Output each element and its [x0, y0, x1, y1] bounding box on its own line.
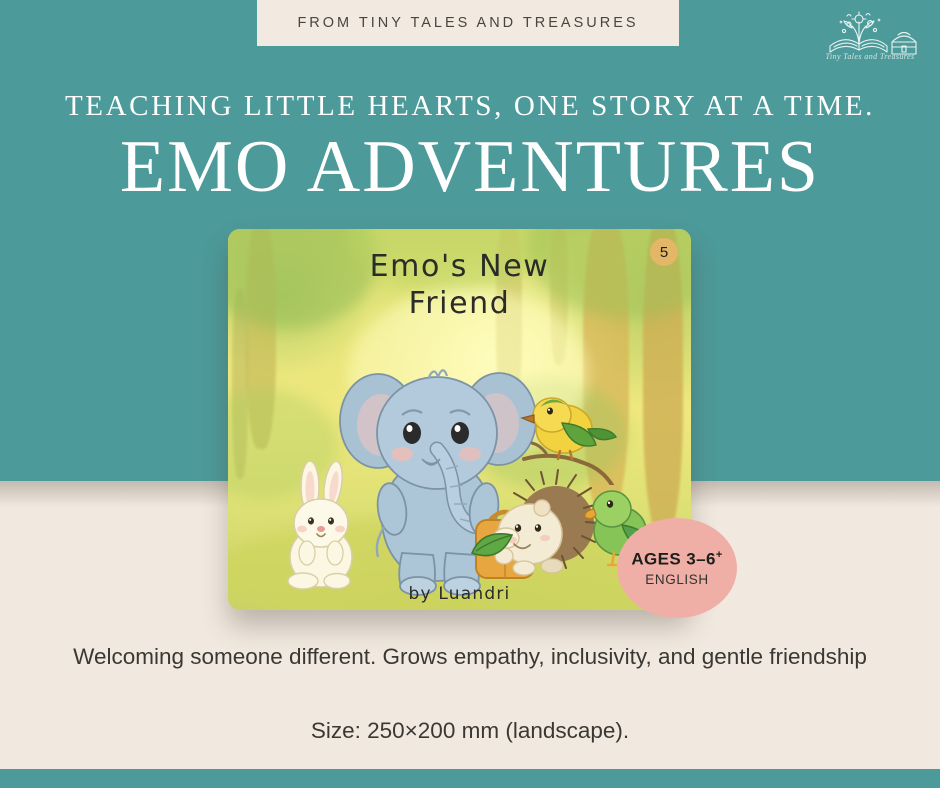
- brand-ribbon: FROM TINY TALES AND TREASURES: [257, 0, 679, 46]
- bottom-teal-bar: [0, 769, 940, 788]
- book-number-badge: 5: [650, 238, 678, 266]
- age-badge: AGES 3–6+ ENGLISH: [617, 518, 737, 618]
- brand-logo: Tiny Tales and Treasures: [816, 2, 924, 76]
- open-book-icon: [816, 2, 924, 58]
- poster-canvas: FROM TINY TALES AND TREASURES: [0, 0, 940, 788]
- green-leaf-icon: [468, 529, 514, 569]
- book-title: Emo's New Friend: [228, 249, 691, 322]
- tagline: TEACHING LITTLE HEARTS, ONE STORY AT A T…: [0, 90, 940, 123]
- book-size-line: Size: 250×200 mm (landscape).: [70, 718, 870, 744]
- page-title: EMO ADVENTURES: [0, 130, 940, 204]
- language-label: ENGLISH: [645, 572, 708, 587]
- brand-logo-script: Tiny Tales and Treasures: [816, 52, 924, 61]
- age-range-text: AGES 3–6: [631, 549, 715, 568]
- age-range-label: AGES 3–6+: [631, 549, 722, 570]
- age-range-plus: +: [716, 549, 723, 561]
- brand-ribbon-text: FROM TINY TALES AND TREASURES: [297, 15, 638, 31]
- yellow-bird-illustration: [518, 389, 638, 485]
- book-blurb: Welcoming someone different. Grows empat…: [70, 642, 870, 672]
